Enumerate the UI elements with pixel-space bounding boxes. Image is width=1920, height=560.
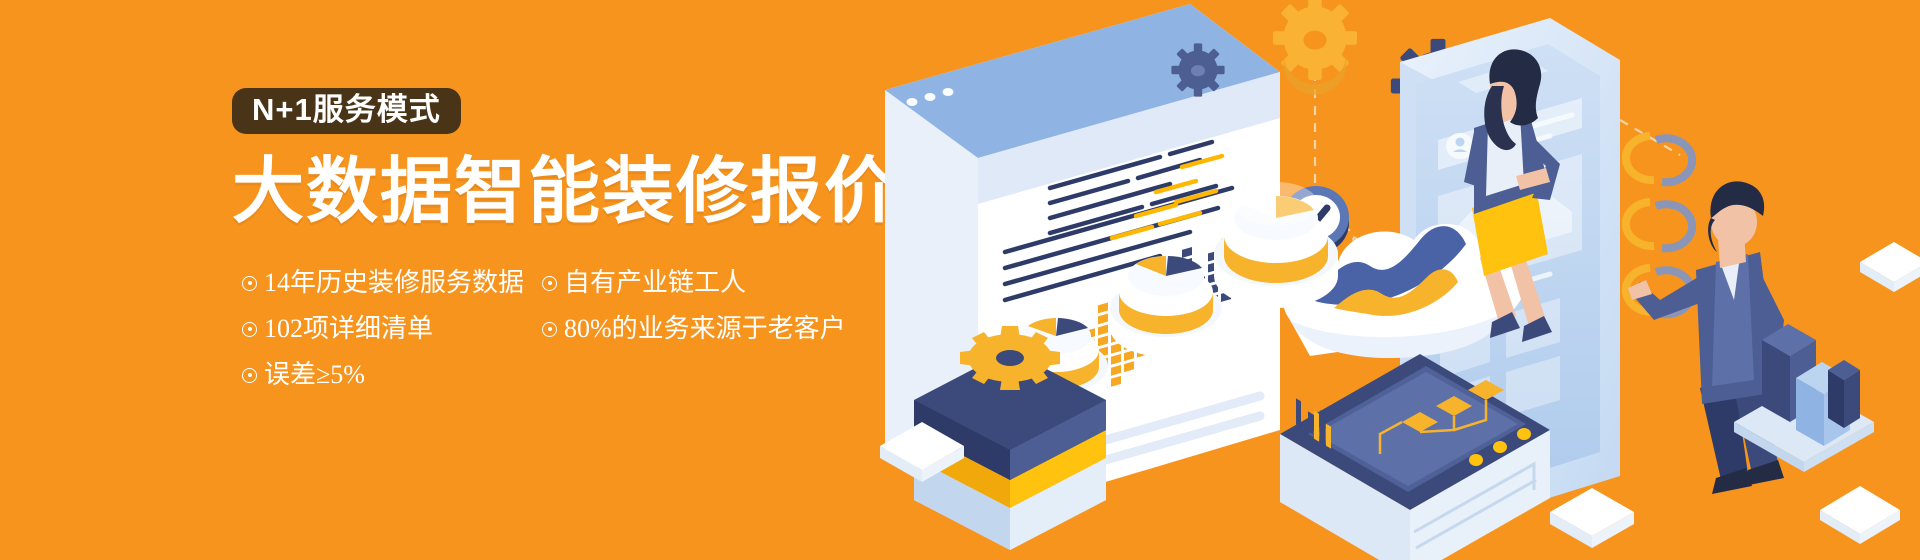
target-dot-icon: [542, 322, 557, 337]
feature-item: 102项详细清单: [242, 316, 542, 342]
feature-item: 14年历史装修服务数据: [242, 270, 542, 296]
promo-banner: N+1服务模式 大数据智能装修报价 14年历史装修服务数据 自有产业链工人 10…: [0, 0, 1920, 560]
feature-label: 误差≥5%: [264, 362, 365, 388]
feature-label: 自有产业链工人: [564, 270, 746, 296]
gear-small-navy-icon: [1171, 43, 1224, 96]
feature-item: 误差≥5%: [242, 362, 542, 388]
feature-label: 102项详细清单: [264, 316, 433, 342]
floating-tile: [1550, 488, 1634, 548]
target-dot-icon: [242, 368, 257, 383]
floating-tile: [1820, 486, 1900, 544]
floating-tile: [1860, 242, 1920, 292]
feature-label: 14年历史装修服务数据: [264, 270, 524, 296]
target-dot-icon: [242, 322, 257, 337]
service-model-badge: N+1服务模式: [232, 88, 461, 134]
target-dot-icon: [242, 276, 257, 291]
isometric-big-data-illustration: [860, 0, 1920, 560]
target-dot-icon: [542, 276, 557, 291]
feature-label: 80%的业务来源于老客户: [564, 316, 846, 342]
